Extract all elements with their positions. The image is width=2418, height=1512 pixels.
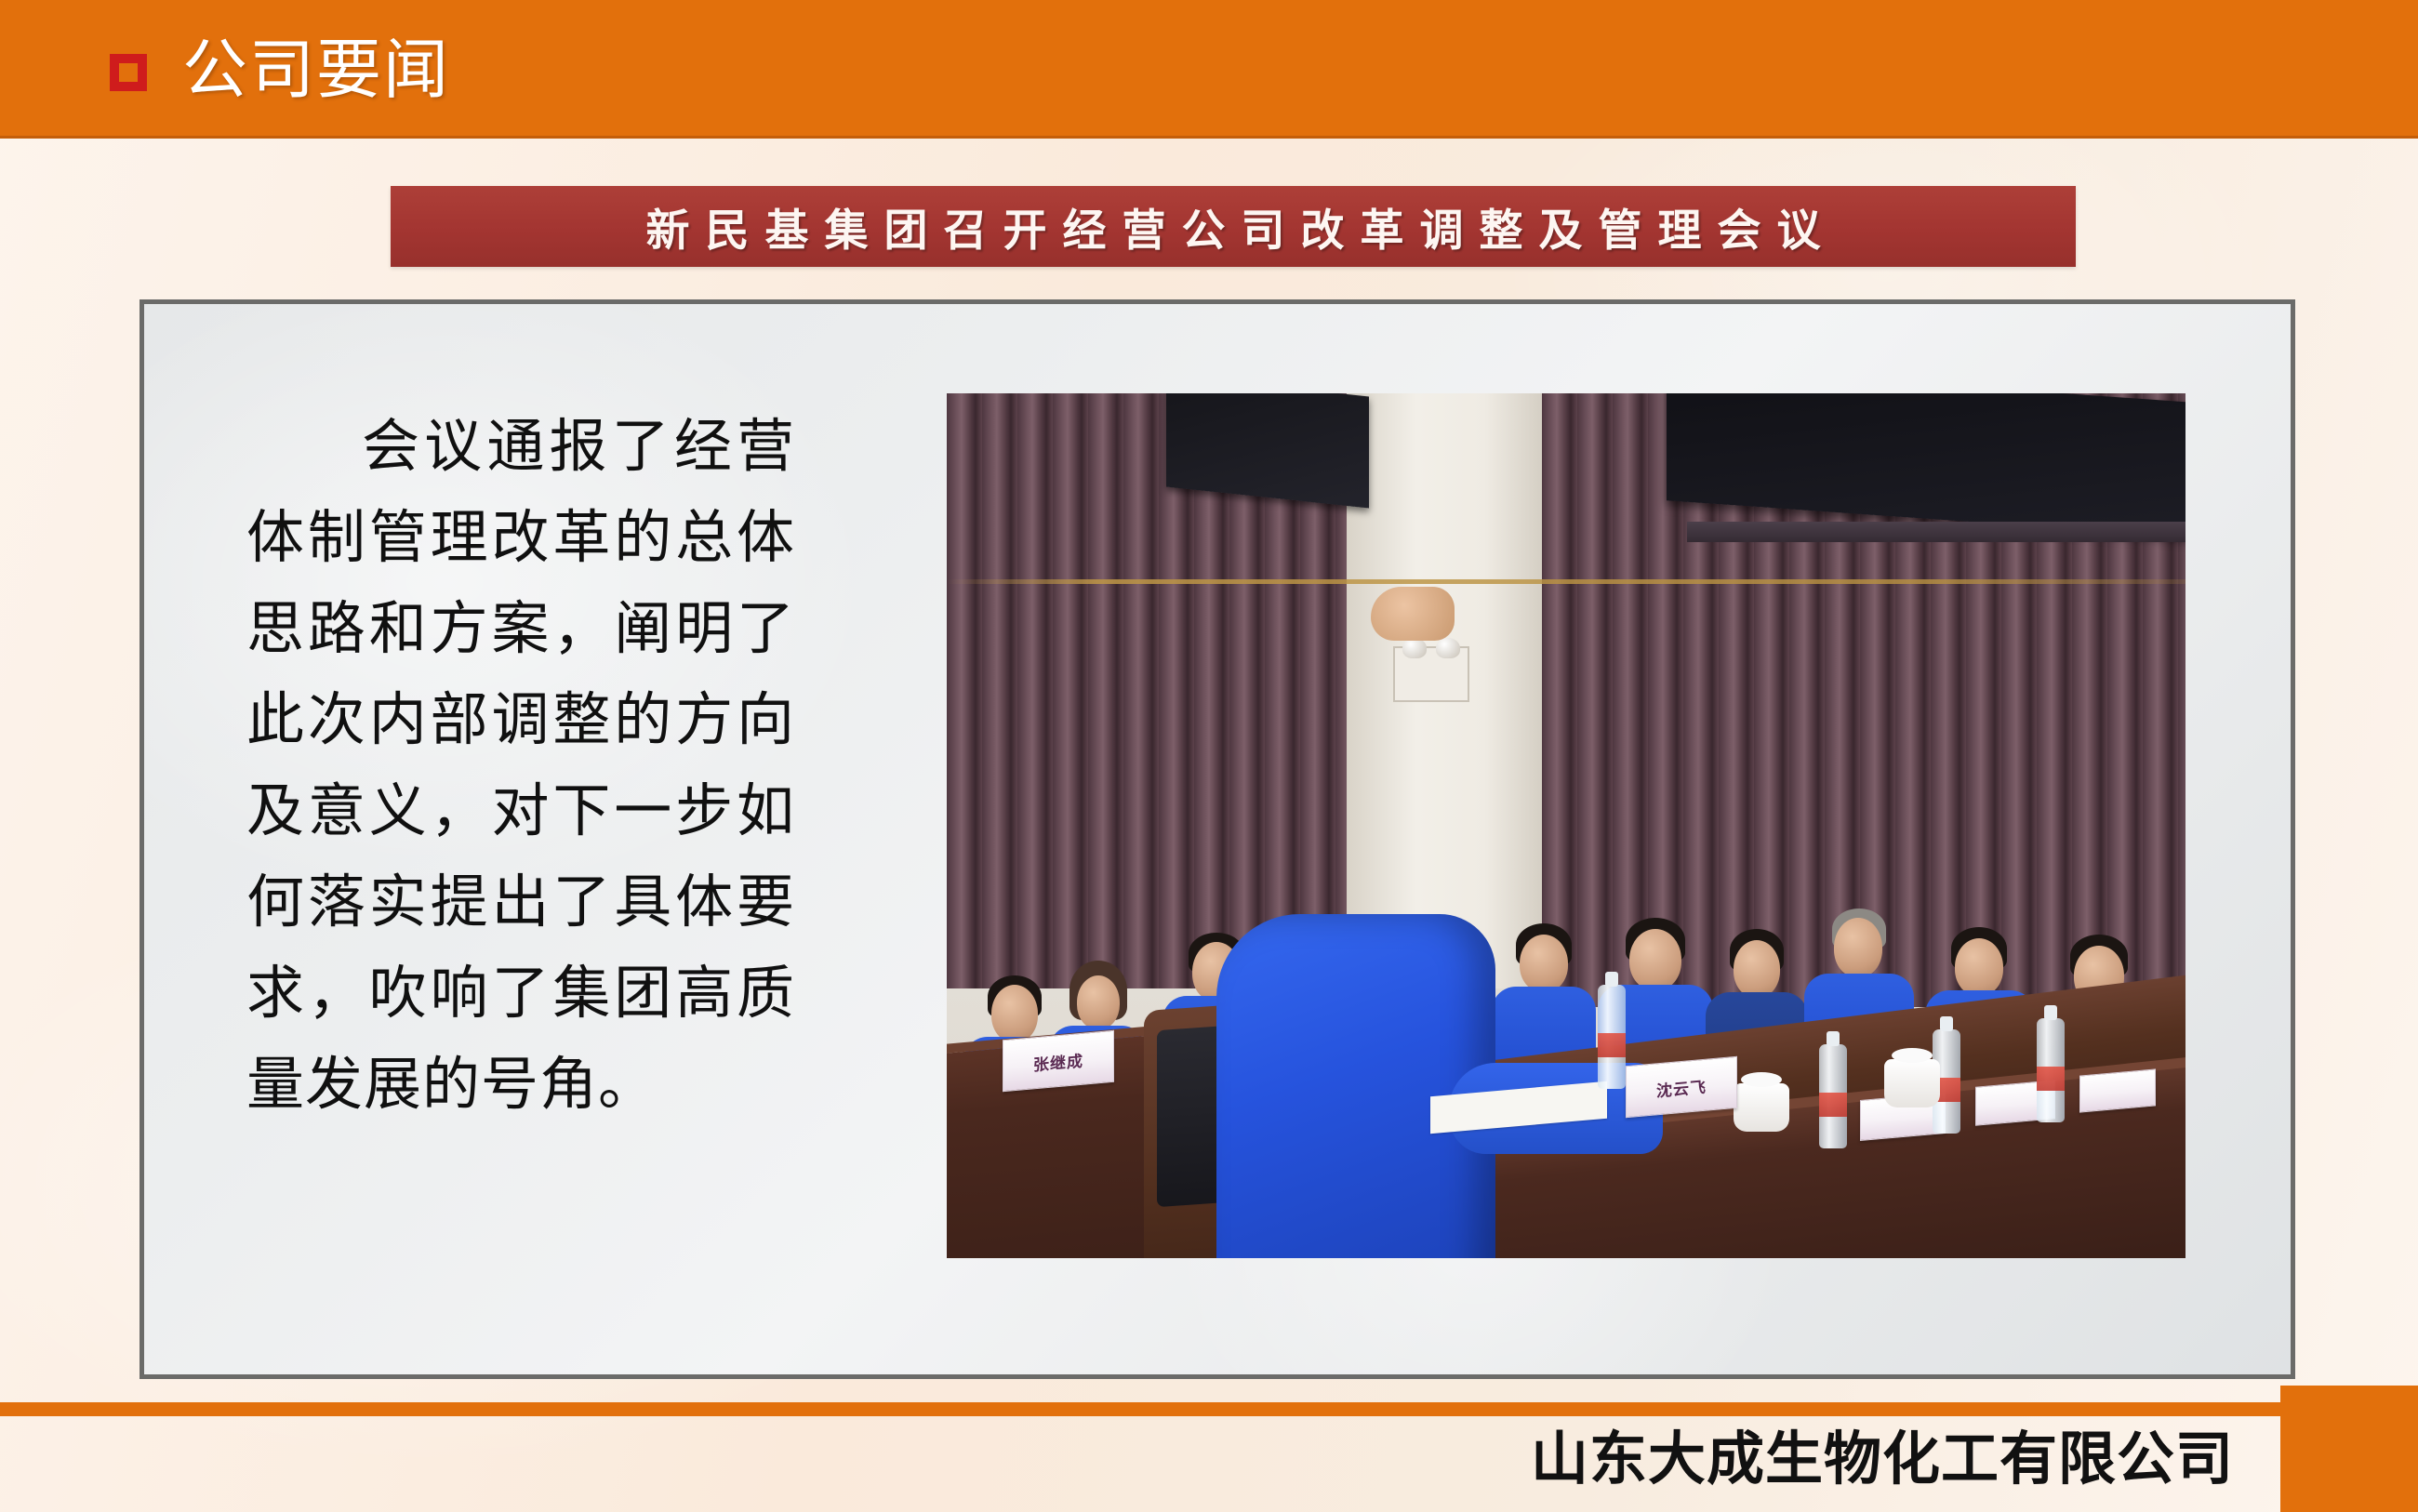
photo-foreground-person: [1216, 914, 1495, 1258]
placard-name-shen: 沈云飞: [1656, 1073, 1707, 1101]
photo-emergency-light-icon: [1393, 646, 1469, 702]
head: [1834, 918, 1882, 977]
name-placard: [2079, 1068, 2156, 1112]
header-content: 公司要闻: [110, 0, 450, 139]
tea-cup: [1884, 1059, 1940, 1107]
head: [1629, 929, 1681, 990]
page-header: 公司要闻: [0, 0, 2418, 139]
footer-company-name: 山东大成生物化工有限公司: [1531, 1412, 2234, 1495]
tea-cup: [1734, 1083, 1789, 1132]
placard-name-zhang: 张继成: [1033, 1047, 1083, 1075]
name-placard-shen: 沈云飞: [1626, 1056, 1737, 1118]
water-bottle: [1819, 1044, 1847, 1148]
article-title: 新民基集团召开经营公司改革调整及管理会议: [631, 194, 1837, 259]
square-bullet-icon: [110, 54, 147, 91]
name-placard-zhang: 张继成: [1003, 1030, 1114, 1092]
head: [1520, 935, 1568, 992]
page-title: 公司要闻: [182, 37, 450, 102]
head: [1955, 938, 2003, 996]
hand: [1371, 587, 1455, 641]
meeting-photo: 张继成 沈云飞: [947, 393, 2185, 1258]
photo-curtain-rail: [947, 579, 2185, 584]
article-body: 会议通报了经营体制管理改革的总体思路和方案，阐明了此次内部调整的方向及意义，对下…: [246, 402, 795, 1131]
article-title-banner: 新民基集团召开经营公司改革调整及管理会议: [391, 186, 2076, 267]
water-bottle: [1598, 985, 1626, 1089]
content-panel: 会议通报了经营体制管理改革的总体思路和方案，阐明了此次内部调整的方向及意义，对下…: [139, 299, 2295, 1379]
water-bottle: [2037, 1018, 2065, 1122]
photo-screen-frame: [1687, 522, 2185, 542]
footer-accent-block: [2280, 1386, 2418, 1512]
